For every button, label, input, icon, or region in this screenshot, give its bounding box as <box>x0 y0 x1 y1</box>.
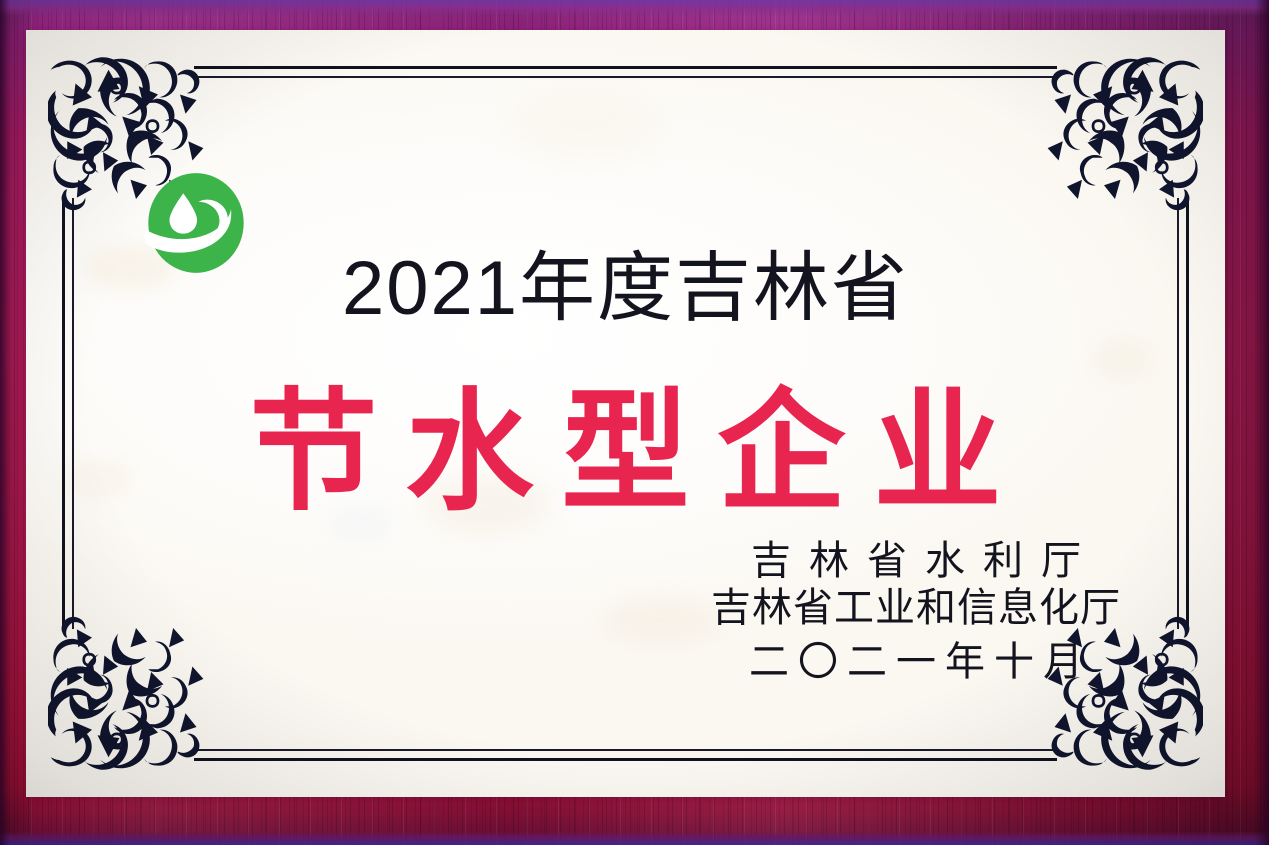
border-rail-bottom-inner <box>194 749 1057 751</box>
frame-left-shadow <box>0 0 10 845</box>
corner-ornament-bottom-left-icon <box>48 606 213 771</box>
border-rail-top-inner <box>194 76 1057 78</box>
issuer-secondary: 吉林省工业和信息化厅 <box>711 585 1121 632</box>
plaque-award-name: 节水型企业 <box>26 345 1225 536</box>
corner-ornament-top-right-icon <box>1038 56 1203 221</box>
issuer-primary: 吉林省水利厅 <box>711 538 1121 585</box>
border-rail-bottom-outer <box>194 758 1057 761</box>
issuer-block: 吉林省水利厅 吉林省工业和信息化厅 二〇二一年十月 <box>711 538 1121 692</box>
plaque-image: 2021年度吉林省 节水型企业 吉林省水利厅 吉林省工业和信息化厅 二〇二一年十… <box>0 0 1269 845</box>
border-rail-top-outer <box>194 66 1057 69</box>
issue-date: 二〇二一年十月 <box>711 632 1121 692</box>
frame-top-highlight <box>0 0 1269 16</box>
certificate-plate: 2021年度吉林省 节水型企业 吉林省水利厅 吉林省工业和信息化厅 二〇二一年十… <box>26 30 1225 797</box>
paper-blemish <box>506 91 666 161</box>
plaque-year-title: 2021年度吉林省 <box>26 226 1225 336</box>
paper-blemish <box>602 598 722 643</box>
frame-right-shadow <box>1255 0 1269 845</box>
frame-bottom-highlight <box>0 831 1269 845</box>
